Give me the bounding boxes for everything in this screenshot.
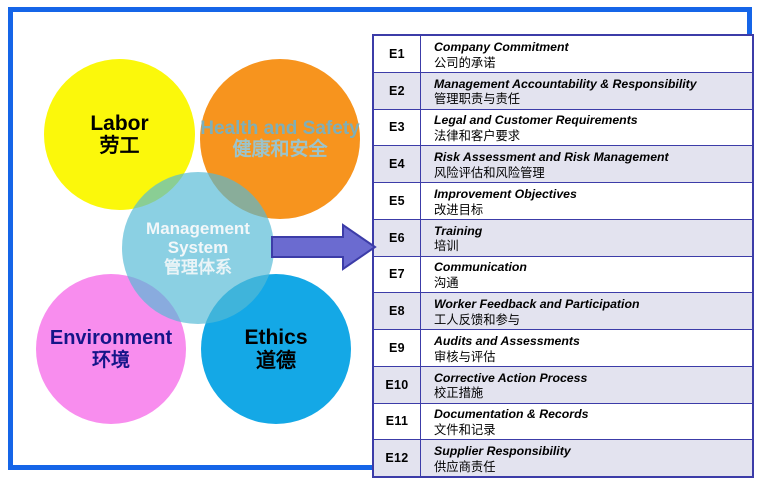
table-row-body: Supplier Responsibility供应商责任 [421,440,752,476]
table-row-label-zh: 培训 [434,239,752,254]
table-row-id: E7 [374,257,421,293]
table-row[interactable]: E2Management Accountability & Responsibi… [374,73,752,110]
table-row-id: E6 [374,220,421,256]
slide-canvas: Labor 劳工 Health and Safety 健康和安全 Environ… [0,0,760,477]
table-row-label-zh: 管理职责与责任 [434,92,752,107]
table-row-id: E8 [374,293,421,329]
table-row-label-en: Worker Feedback and Participation [434,297,752,312]
table-row[interactable]: E9Audits and Assessments审核与评估 [374,330,752,367]
table-row-body: Improvement Objectives改进目标 [421,183,752,219]
table-row[interactable]: E6Training培训 [374,220,752,257]
venn-circle-health-and-safety-label-zh: 健康和安全 [232,139,327,160]
table-row-label-en: Improvement Objectives [434,187,752,202]
table-row[interactable]: E5Improvement Objectives改进目标 [374,183,752,220]
table-row-label-zh: 改进目标 [434,203,752,218]
table-row-id: E1 [374,36,421,72]
table-row-label-en: Documentation & Records [434,407,752,422]
table-row-id: E11 [374,404,421,440]
venn-circle-ethics-label-en: Ethics [244,326,307,350]
slide-border-frame: Labor 劳工 Health and Safety 健康和安全 Environ… [8,7,752,470]
table-row-body: Legal and Customer Requirements法律和客户要求 [421,110,752,146]
table-row[interactable]: E10Corrective Action Process校正措施 [374,367,752,404]
table-row-body: Company Commitment公司的承诺 [421,36,752,72]
table-row-label-en: Corrective Action Process [434,371,752,386]
table-row-body: Communication沟通 [421,257,752,293]
table-row-body: Worker Feedback and Participation工人反馈和参与 [421,293,752,329]
table-row-label-zh: 法律和客户要求 [434,129,752,144]
table-row-label-zh: 文件和记录 [434,423,752,438]
table-row-label-en: Company Commitment [434,40,752,55]
venn-circle-health-and-safety-label-en: Health and Safety [200,118,359,139]
venn-circle-labor-label-en: Labor [90,112,148,136]
table-row-body: Training培训 [421,220,752,256]
table-row-id: E5 [374,183,421,219]
table-row-label-en: Training [434,224,752,239]
table-row-label-en: Communication [434,260,752,275]
venn-circle-management-system-label-en-line2: System [168,238,228,257]
table-row-id: E3 [374,110,421,146]
table-row-label-zh: 校正措施 [434,386,752,401]
venn-circle-ethics-label-zh: 道德 [256,350,296,372]
table-row-body: Risk Assessment and Risk Management风险评估和… [421,146,752,182]
table-row-label-en: Audits and Assessments [434,334,752,349]
table-row-label-zh: 公司的承诺 [434,56,752,71]
table-row-label-en: Supplier Responsibility [434,444,752,459]
table-row[interactable]: E11Documentation & Records文件和记录 [374,404,752,441]
table-row-label-en: Management Accountability & Responsibili… [434,77,752,92]
table-row[interactable]: E7Communication沟通 [374,257,752,294]
table-row-label-zh: 审核与评估 [434,350,752,365]
table-row[interactable]: E3Legal and Customer Requirements法律和客户要求 [374,110,752,147]
table-row-id: E2 [374,73,421,109]
venn-circle-management-system[interactable]: Management System 管理体系 [122,172,274,324]
table-row-body: Audits and Assessments审核与评估 [421,330,752,366]
table-row-id: E9 [374,330,421,366]
table-row[interactable]: E1Company Commitment公司的承诺 [374,36,752,73]
table-row-body: Corrective Action Process校正措施 [421,367,752,403]
venn-circle-management-system-label-zh: 管理体系 [164,258,232,277]
table-row-label-zh: 供应商责任 [434,460,752,475]
table-row-label-zh: 工人反馈和参与 [434,313,752,328]
venn-circle-environment-label-en: Environment [50,327,172,349]
table-row-label-zh: 沟通 [434,276,752,291]
venn-diagram: Labor 劳工 Health and Safety 健康和安全 Environ… [13,12,373,489]
venn-circle-environment-label-zh: 环境 [92,350,130,371]
table-row-label-en: Risk Assessment and Risk Management [434,150,752,165]
table-row-label-en: Legal and Customer Requirements [434,113,752,128]
table-row-id: E10 [374,367,421,403]
table-row-id: E4 [374,146,421,182]
table-row[interactable]: E8Worker Feedback and Participation工人反馈和… [374,293,752,330]
table-row-label-zh: 风险评估和风险管理 [434,166,752,181]
venn-circle-labor-label-zh: 劳工 [100,135,140,157]
table-row-body: Management Accountability & Responsibili… [421,73,752,109]
right-arrow-icon [271,223,377,271]
table-row-body: Documentation & Records文件和记录 [421,404,752,440]
venn-circle-management-system-label-en-line1: Management [146,219,250,238]
table-row[interactable]: E12Supplier Responsibility供应商责任 [374,440,752,476]
elements-table: E1Company Commitment公司的承诺E2Management Ac… [372,34,754,478]
table-row[interactable]: E4Risk Assessment and Risk Management风险评… [374,146,752,183]
table-row-id: E12 [374,440,421,476]
